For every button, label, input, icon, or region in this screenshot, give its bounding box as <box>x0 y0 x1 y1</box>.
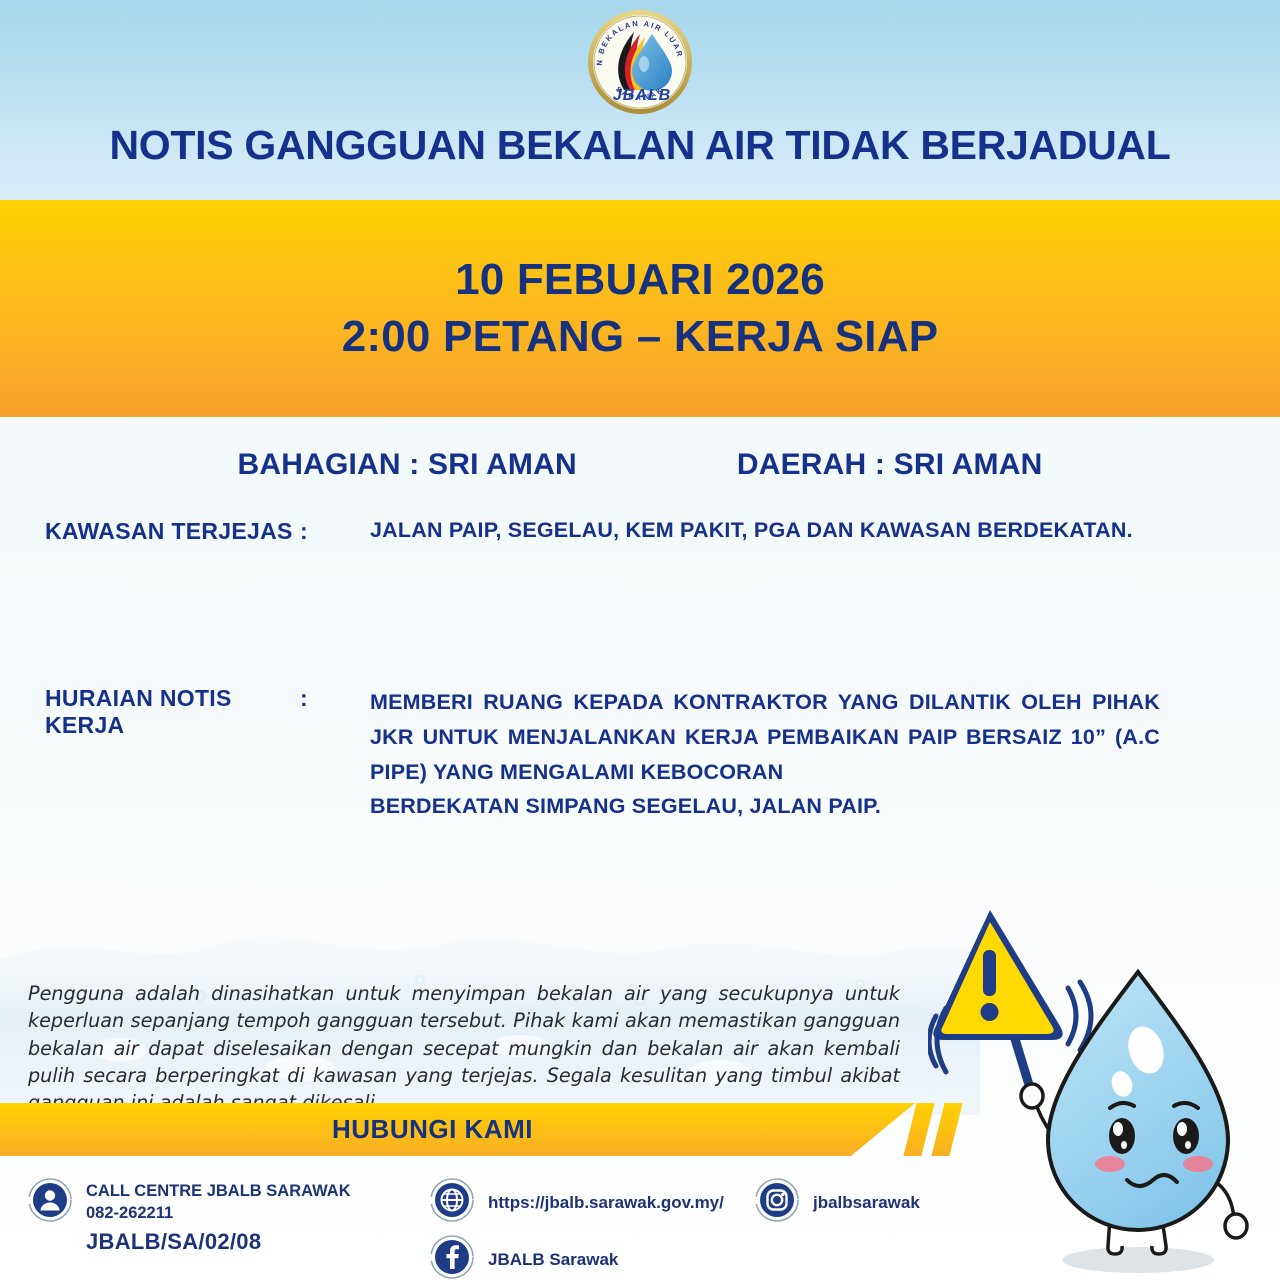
huraian-notis-kerja-colon: : <box>300 685 370 712</box>
contact-call-centre: CALL CENTRE JBALB SARAWAK 082-262211 JBA… <box>28 1178 351 1256</box>
date-band: 10 FEBUARI 2026 2:00 PETANG – KERJA SIAP <box>0 200 1280 417</box>
kawasan-terjejas-value: JALAN PAIP, SEGELAU, KEM PAKIT, PGA DAN … <box>370 518 1160 543</box>
page-title: NOTIS GANGGUAN BEKALAN AIR TIDAK BERJADU… <box>0 122 1280 169</box>
person-icon <box>28 1178 72 1222</box>
call-centre-line-2: 082-262211 <box>86 1203 351 1225</box>
notice-reference-number: JBALB/SA/02/08 <box>86 1225 351 1256</box>
contact-website[interactable]: https://jbalb.sarawak.gov.my/ <box>430 1178 724 1222</box>
huraian-last-line: BERDEKATAN SIMPANG SEGELAU, JALAN PAIP. <box>370 789 1160 824</box>
kawasan-terjejas-label: KAWASAN TERJEJAS <box>0 518 300 545</box>
banner-stripe-2 <box>931 1103 962 1156</box>
contact-banner-label: HUBUNGI KAMI <box>332 1114 533 1145</box>
region-row: BAHAGIAN : SRI AMAN DAERAH : SRI AMAN <box>0 448 1280 482</box>
contact-facebook[interactable]: JBALB Sarawak <box>430 1235 618 1279</box>
huraian-notis-kerja-row: HURAIAN NOTIS KERJA : MEMBERI RUANG KEPA… <box>0 685 1280 824</box>
huraian-body: MEMBERI RUANG KEPADA KONTRAKTOR YANG DIL… <box>370 690 1160 784</box>
kawasan-terjejas-colon: : <box>300 518 370 545</box>
notice-date: 10 FEBUARI 2026 <box>455 252 825 308</box>
instagram-icon[interactable] <box>755 1178 799 1222</box>
contact-instagram[interactable]: jbalbsarawak <box>755 1178 920 1222</box>
website-url[interactable]: https://jbalb.sarawak.gov.my/ <box>488 1181 724 1215</box>
warning-triangle-icon <box>933 910 1062 1040</box>
bahagian-label: BAHAGIAN : SRI AMAN <box>238 448 577 482</box>
huraian-notis-kerja-label: HURAIAN NOTIS KERJA <box>0 685 300 739</box>
jbalb-logo-icon: JABATAN BEKALAN AIR LUAR BANDAR SARAWAK … <box>586 8 694 116</box>
jbalb-logo: JABATAN BEKALAN AIR LUAR BANDAR SARAWAK … <box>586 8 694 116</box>
facebook-icon[interactable] <box>430 1235 474 1279</box>
call-centre-line-1: CALL CENTRE JBALB SARAWAK <box>86 1181 351 1203</box>
globe-icon[interactable] <box>430 1178 474 1222</box>
contact-banner: HUBUNGI KAMI <box>0 1103 915 1156</box>
advisory-paragraph: Pengguna adalah dinasihatkan untuk menyi… <box>28 980 900 1116</box>
header-band: JABATAN BEKALAN AIR LUAR BANDAR SARAWAK … <box>0 0 1280 200</box>
svg-text:JBALB: JBALB <box>613 87 671 104</box>
notice-time-status: 2:00 PETANG – KERJA SIAP <box>342 309 939 365</box>
instagram-handle[interactable]: jbalbsarawak <box>813 1181 920 1215</box>
daerah-label: DAERAH : SRI AMAN <box>737 448 1043 482</box>
facebook-handle[interactable]: JBALB Sarawak <box>488 1238 618 1272</box>
banner-stripe-1 <box>903 1103 934 1156</box>
kawasan-terjejas-row: KAWASAN TERJEJAS : JALAN PAIP, SEGELAU, … <box>0 518 1280 545</box>
huraian-notis-kerja-value: MEMBERI RUANG KEPADA KONTRAKTOR YANG DIL… <box>370 685 1160 824</box>
water-droplet-mascot-icon <box>928 888 1280 1280</box>
water-disruption-notice-poster: JABATAN BEKALAN AIR LUAR BANDAR SARAWAK … <box>0 0 1280 1280</box>
